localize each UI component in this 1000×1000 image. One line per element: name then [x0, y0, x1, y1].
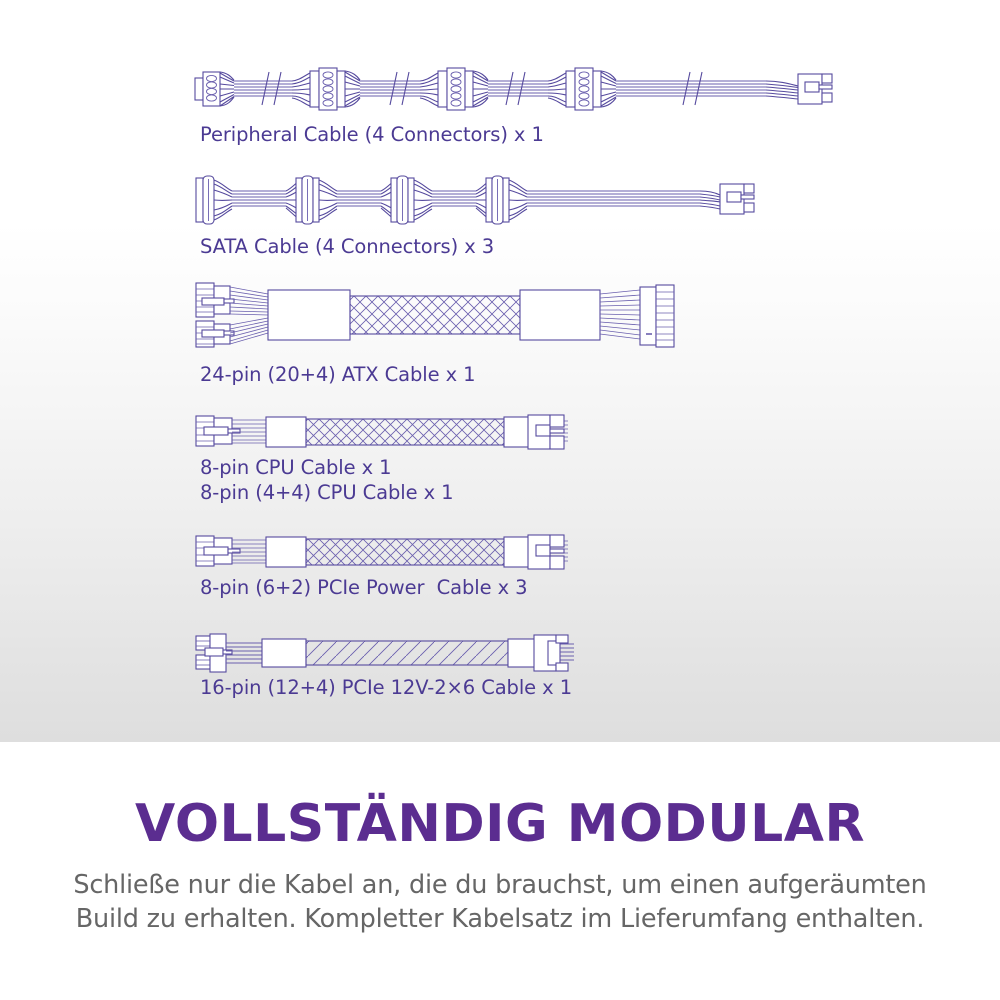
- promo-panel: VOLLSTÄNDIG MODULAR Schließe nur die Kab…: [0, 742, 1000, 1000]
- pcie-8pin-cable-diagram: [0, 528, 1000, 578]
- cable-item-sata: SATA Cable (4 Connectors) x 3: [0, 170, 1000, 265]
- product-feature-graphic: Peripheral Cable (4 Connectors) x 1: [0, 0, 1000, 1000]
- atx-24pin-cable-diagram: [0, 278, 1000, 358]
- promo-subtext-line-2: Build zu erhalten. Kompletter Kabelsatz …: [50, 903, 950, 937]
- cpu-8pin-cable-diagram: [0, 408, 1000, 458]
- cable-item-peripheral: Peripheral Cable (4 Connectors) x 1: [0, 60, 1000, 155]
- cable-label-cpu-4plus4: 8-pin (4+4) CPU Cable x 1: [200, 481, 453, 504]
- cable-label-atx: 24-pin (20+4) ATX Cable x 1: [200, 363, 475, 386]
- cable-label-cpu-8pin: 8-pin CPU Cable x 1: [200, 456, 391, 479]
- promo-subtext-line-1: Schließe nur die Kabel an, die du brauch…: [50, 869, 950, 903]
- cable-item-pcie: 8-pin (6+2) PCIe Power Cable x 3: [0, 528, 1000, 623]
- cable-label-pcie-8pin: 8-pin (6+2) PCIe Power Cable x 3: [200, 576, 527, 599]
- cable-label-sata: SATA Cable (4 Connectors) x 3: [200, 235, 494, 258]
- promo-subtext: Schließe nur die Kabel an, die du brauch…: [50, 869, 950, 936]
- sata-cable-diagram: [0, 170, 1000, 230]
- peripheral-cable-diagram: [0, 60, 1000, 120]
- cable-label-pcie-16pin: 16-pin (12+4) PCIe 12V-2×6 Cable x 1: [200, 676, 572, 699]
- cable-item-atx: 24-pin (20+4) ATX Cable x 1: [0, 278, 1000, 388]
- cable-illustrations-panel: Peripheral Cable (4 Connectors) x 1: [0, 0, 1000, 742]
- cable-item-pcie-16pin: 16-pin (12+4) PCIe 12V-2×6 Cable x 1: [0, 628, 1000, 723]
- cable-item-cpu: 8-pin CPU Cable x 1 8-pin (4+4) CPU Cabl…: [0, 408, 1000, 518]
- pcie-16pin-cable-diagram: [0, 628, 1000, 678]
- cable-label-peripheral: Peripheral Cable (4 Connectors) x 1: [200, 123, 544, 146]
- promo-headline: VOLLSTÄNDIG MODULAR: [0, 798, 1000, 850]
